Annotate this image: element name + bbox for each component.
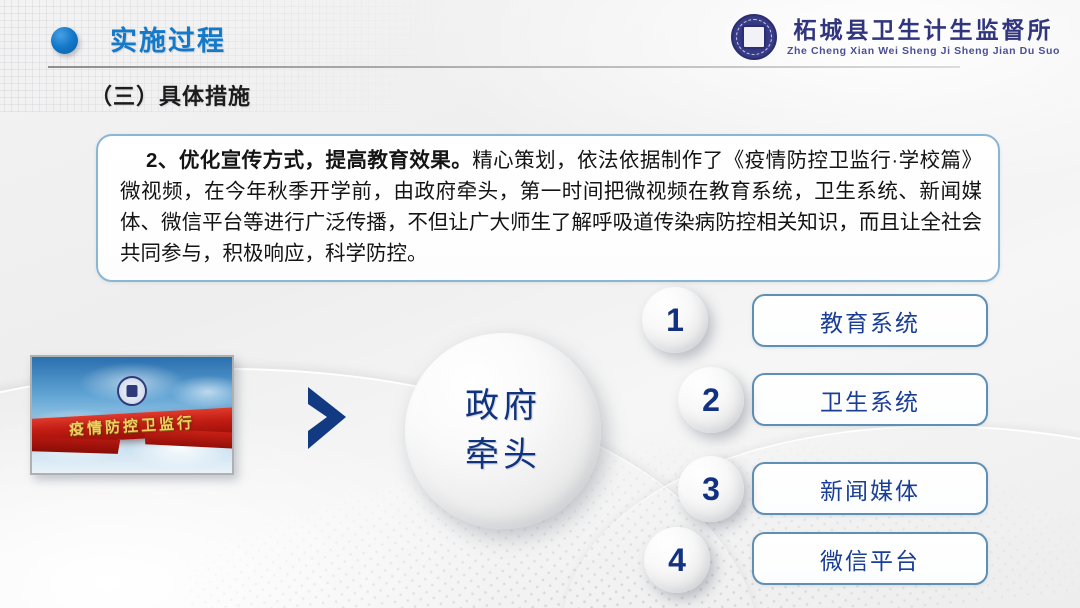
body-text-box: 2、优化宣传方式，提高教育效果。精心策划，依法依据制作了《疫情防控卫监行·学校篇…: [96, 134, 1000, 282]
center-hub-line-2: 牵头: [465, 431, 541, 480]
step-number-circle-1: 1: [642, 287, 708, 353]
organization-name: 柘城县卫生计生监督所: [793, 17, 1053, 43]
supervision-seal-emblem-icon: [117, 376, 147, 406]
slide-header: 实施过程 柘城县卫生计生监督所 Zhe Cheng Xian Wei Sheng…: [0, 0, 1080, 76]
body-lead-sentence: 2、优化宣传方式，提高教育效果。: [146, 149, 472, 172]
organization-pinyin: Zhe Cheng Xian Wei Sheng Ji Sheng Jian D…: [787, 45, 1060, 57]
page-title: 实施过程: [110, 19, 226, 58]
body-paragraph: 2、优化宣传方式，提高教育效果。精心策划，依法依据制作了《疫情防控卫监行·学校篇…: [120, 145, 982, 269]
section-subtitle: （三）具体措施: [90, 79, 251, 111]
institution-seal-emblem-icon: [731, 14, 777, 60]
flow-label-box-health[interactable]: 卫生系统: [752, 373, 988, 426]
step-number-circle-2: 2: [678, 367, 744, 433]
center-hub-line-1: 政府: [465, 382, 541, 431]
flow-label-box-news-media[interactable]: 新闻媒体: [752, 462, 988, 515]
slide-canvas: 实施过程 柘城县卫生计生监督所 Zhe Cheng Xian Wei Sheng…: [0, 0, 1080, 608]
organization-logo: 柘城县卫生计生监督所 Zhe Cheng Xian Wei Sheng Ji S…: [731, 14, 1060, 60]
flow-label-box-education[interactable]: 教育系统: [752, 294, 988, 347]
bullet-circle-icon: [51, 27, 78, 54]
step-number-circle-3: 3: [678, 456, 744, 522]
flow-label-box-wechat[interactable]: 微信平台: [752, 532, 988, 585]
video-thumbnail[interactable]: 疫情防控卫监行: [30, 355, 234, 475]
header-divider: [48, 66, 960, 68]
step-number-circle-4: 4: [644, 527, 710, 593]
logo-text-group: 柘城县卫生计生监督所 Zhe Cheng Xian Wei Sheng Ji S…: [787, 17, 1060, 56]
center-hub-circle: 政府 牵头: [405, 333, 601, 529]
